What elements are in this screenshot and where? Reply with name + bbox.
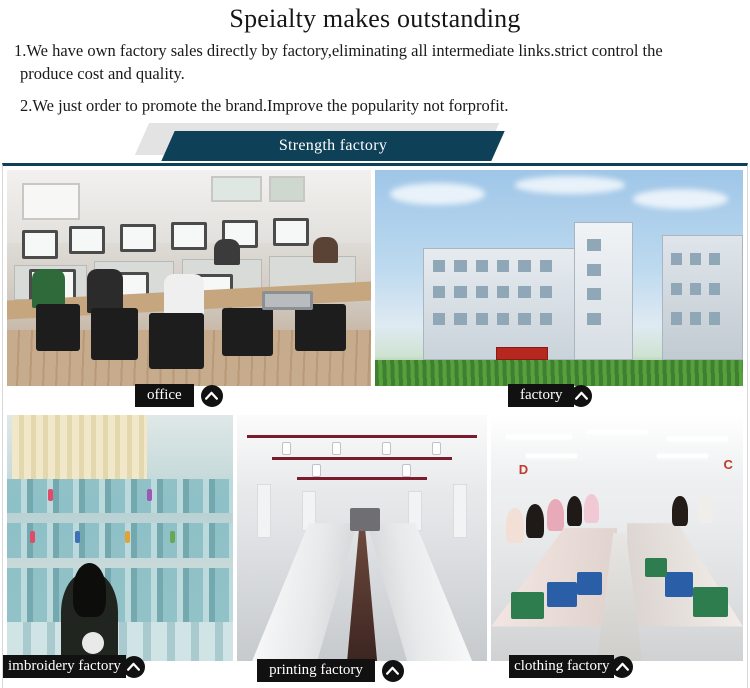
gallery-item-factory[interactable]: factory [375, 170, 743, 414]
gallery-item-printing[interactable]: printing factory [237, 415, 487, 669]
gallery-item-embroidery[interactable]: imbroidery factory [7, 415, 233, 669]
factory-photo [375, 170, 743, 386]
factory-gallery: office [2, 163, 748, 688]
intro-text-block: 1.We have own factory sales directly by … [0, 36, 750, 117]
office-caption[interactable]: office [135, 384, 223, 407]
product-description-page: Speialty makes outstanding 1.We have own… [0, 0, 750, 688]
gallery-item-office[interactable]: office [7, 170, 371, 414]
printing-photo [237, 415, 487, 661]
page-title: Speialty makes outstanding [0, 0, 750, 36]
gallery-item-clothing[interactable]: D C [491, 415, 743, 669]
banner-title: Strength factory [168, 131, 498, 161]
factory-label: factory [508, 384, 574, 407]
embroidery-photo [7, 415, 233, 661]
clothing-label: clothing factory [509, 655, 614, 678]
chevron-up-icon[interactable] [570, 385, 592, 407]
intro-line-2: produce cost and quality. [14, 62, 742, 85]
clothing-caption[interactable]: clothing factory [509, 655, 633, 678]
chevron-up-icon[interactable] [382, 660, 404, 682]
factory-caption[interactable]: factory [508, 384, 592, 407]
chevron-up-icon[interactable] [123, 656, 145, 678]
printing-caption[interactable]: printing factory [257, 659, 404, 682]
chevron-up-icon[interactable] [611, 656, 633, 678]
chevron-up-icon[interactable] [201, 385, 223, 407]
office-label: office [135, 384, 194, 407]
gallery-row-bottom: imbroidery factory [7, 415, 743, 669]
clothing-photo: D C [491, 415, 743, 661]
office-photo [7, 170, 371, 386]
intro-line-3: 2.We just order to promote the brand.Imp… [14, 94, 742, 117]
section-banner: Strength factory [0, 123, 750, 163]
embroidery-label: imbroidery factory [3, 655, 126, 678]
intro-line-1: 1.We have own factory sales directly by … [14, 39, 742, 62]
printing-label: printing factory [257, 659, 375, 682]
embroidery-caption[interactable]: imbroidery factory [3, 655, 145, 678]
gallery-row-top: office [7, 170, 743, 414]
